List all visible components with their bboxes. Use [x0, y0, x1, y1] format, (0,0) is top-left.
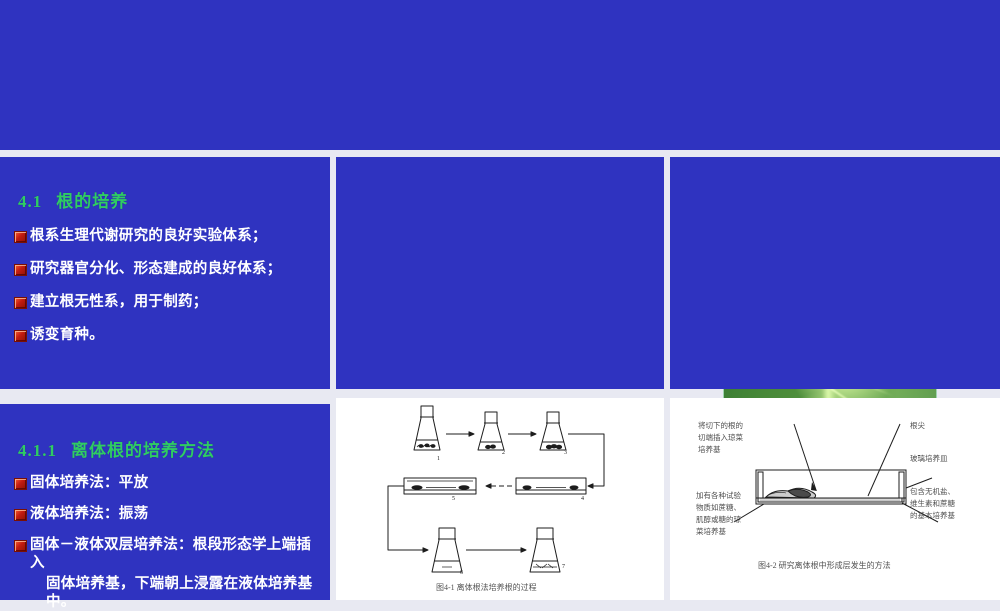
list-item: 固体－液体双层培养法：根段形态学上端插入	[14, 536, 322, 572]
svg-text:6: 6	[460, 570, 463, 576]
svg-text:5: 5	[452, 496, 455, 502]
bullet-square-icon	[14, 297, 27, 309]
bullet-square-icon	[14, 478, 27, 490]
list-item-label: 研究器官分化、形态建成的良好体系；	[30, 260, 282, 278]
panel-root-photo	[336, 157, 664, 389]
bullet-square-icon	[14, 264, 27, 276]
heading-4-1: 4.1根的培养	[18, 187, 128, 212]
top-blue-band	[0, 0, 1000, 150]
list-item-label: 液体培养法：振荡	[30, 505, 148, 523]
slide-canvas: 4.1根的培养 根系生理代谢研究的良好实验体系； 研究器官分化、形态建成的良好体…	[0, 0, 1000, 600]
list-item: 固体培养法：平放	[14, 474, 322, 492]
label-insert-cut-end: 将切下的根的 切端插入琼菜 培养基	[698, 420, 776, 456]
bullet-list-methods: 固体培养法：平放 液体培养法：振荡 固体－液体双层培养法：根段形态学上端插入 固…	[14, 474, 322, 611]
svg-text:7: 7	[562, 564, 565, 570]
label-glass-dish: 玻璃培养皿	[910, 453, 988, 465]
svg-text:4: 4	[581, 496, 584, 502]
svg-text:2: 2	[502, 450, 505, 456]
list-item-continuation: 固体培养基，下端朝上浸露在液体培养基中。	[14, 575, 322, 611]
figure-flask-caption: 图4-1 离体根法培养根的过程	[436, 582, 537, 593]
bullet-square-icon	[14, 540, 27, 552]
figure-petri-caption: 图4-2 研究离体根中形成层发生的方法	[758, 560, 891, 571]
list-item-label: 建立根无性系，用于制药；	[30, 293, 208, 311]
list-item-label: 固体培养法：平放	[30, 474, 148, 492]
panel-flask-process-figure: 1 2	[336, 398, 664, 600]
bullet-square-icon	[14, 231, 27, 243]
panel-petri-figure: 将切下的根的 切端插入琼菜 培养基 加有各种试验 物质如蔗糖、 肌醇或糖的琼 菜…	[670, 398, 1000, 600]
heading-4-1-1: 4.1.1离体根的培养方法	[18, 436, 215, 461]
panel-culture-methods-text: 4.1.1离体根的培养方法 固体培养法：平放 液体培养法：振荡 固体－液体双层培…	[0, 404, 330, 600]
heading-4-1-title: 根的培养	[56, 192, 128, 211]
heading-4-1-1-title: 离体根的培养方法	[71, 441, 215, 460]
list-item: 建立根无性系，用于制药；	[14, 293, 322, 311]
label-basal-medium: 包含无机盐、 维生素和蔗糖 的基本培养基	[910, 486, 996, 522]
list-item-label: 根系生理代谢研究的良好实验体系；	[30, 227, 267, 245]
heading-4-1-number: 4.1	[18, 192, 42, 211]
bullet-square-icon	[14, 330, 27, 342]
list-item: 诱变育种。	[14, 326, 322, 344]
list-item: 液体培养法：振荡	[14, 505, 322, 523]
label-agar-with-substances: 加有各种试验 物质如蔗糖、 肌醇或糖的琼 菜培养基	[696, 490, 782, 538]
list-item-label: 诱变育种。	[30, 326, 104, 344]
bullet-square-icon	[14, 509, 27, 521]
list-item-label: 固体－液体双层培养法：根段形态学上端插入	[30, 536, 322, 572]
list-item: 研究器官分化、形态建成的良好体系；	[14, 260, 322, 278]
svg-text:3: 3	[564, 450, 567, 456]
heading-4-1-1-number: 4.1.1	[18, 441, 57, 460]
bullet-list-root-culture: 根系生理代谢研究的良好实验体系； 研究器官分化、形态建成的良好体系； 建立根无性…	[14, 227, 322, 360]
label-root-tip: 根尖	[910, 420, 988, 432]
panel-root-culture-text: 4.1根的培养 根系生理代谢研究的良好实验体系； 研究器官分化、形态建成的良好体…	[0, 157, 330, 389]
list-item: 根系生理代谢研究的良好实验体系；	[14, 227, 322, 245]
panel-hairy-root-photo	[670, 157, 1000, 389]
svg-text:1: 1	[437, 456, 440, 462]
flask-process-diagram: 1 2	[336, 398, 664, 600]
